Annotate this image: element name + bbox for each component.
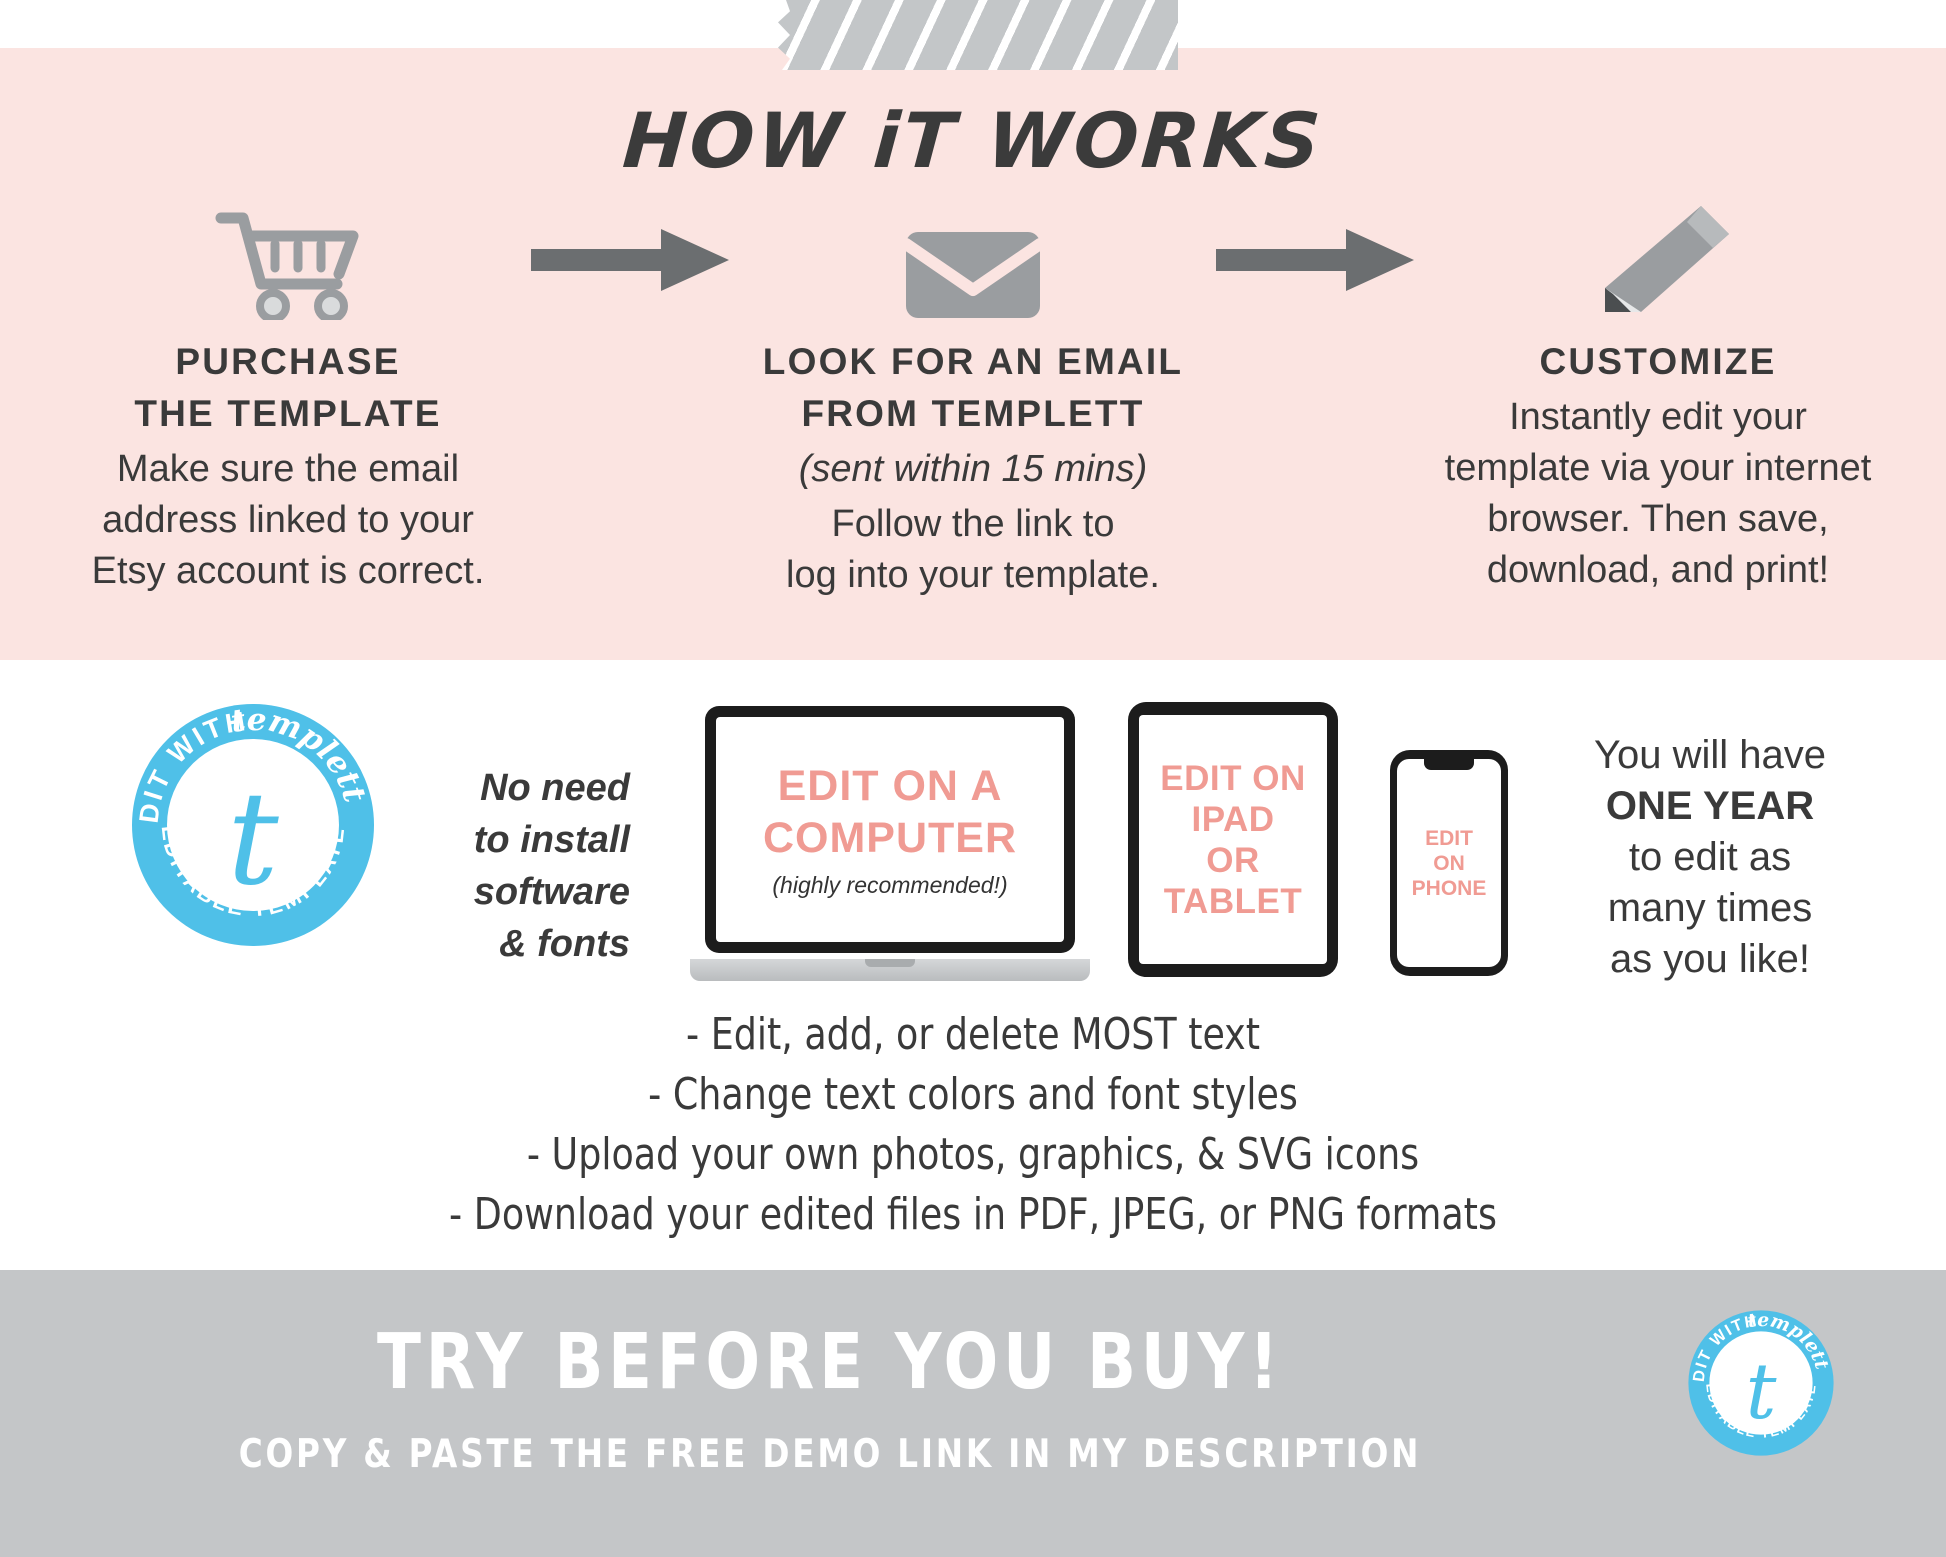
step-heading: PURCHASE THE TEMPLATE — [53, 336, 523, 440]
step-heading-line1: PURCHASE — [175, 341, 400, 382]
tablet-screen: EDIT ON IPAD OR TABLET — [1139, 715, 1327, 964]
gray-footer-section — [0, 1270, 1946, 1557]
laptop-screen: EDIT ON A COMPUTER (highly recommended!) — [716, 717, 1064, 942]
one-year-line2: to edit as — [1629, 835, 1791, 879]
phone-screen: EDIT ON PHONE — [1397, 759, 1501, 967]
one-year-line3: many times — [1608, 886, 1813, 930]
step-customize: CUSTOMIZE Instantly edit your template v… — [1423, 200, 1893, 596]
laptop-screen-heading: EDIT ON A COMPUTER — [763, 760, 1017, 864]
laptop-screen-note: (highly recommended!) — [772, 872, 1007, 899]
step-body-line2: template via your internet — [1445, 447, 1872, 489]
laptop-line1: EDIT ON A — [778, 762, 1003, 810]
how-it-works-infographic: HOW iT WORKS — [0, 0, 1946, 1557]
laptop-lid: EDIT ON A COMPUTER (highly recommended!) — [705, 706, 1075, 953]
step-look-for-email: LOOK FOR AN EMAIL FROM TEMPLETT (sent wi… — [738, 200, 1208, 601]
tablet-mockup: EDIT ON IPAD OR TABLET — [1128, 702, 1338, 977]
no-install-line1: No need — [480, 767, 630, 809]
step-body-line3: log into your template. — [786, 554, 1160, 596]
tablet-line1: EDIT ON — [1160, 759, 1305, 798]
laptop-line2: COMPUTER — [763, 814, 1017, 862]
no-install-line3: software — [474, 871, 630, 913]
footer-subtitle: COPY & PASTE THE FREE DEMO LINK IN MY DE… — [226, 1432, 1435, 1477]
phone-screen-text: EDIT ON PHONE — [1412, 826, 1487, 901]
step-heading: LOOK FOR AN EMAIL FROM TEMPLETT — [738, 336, 1208, 440]
step-heading: CUSTOMIZE — [1423, 336, 1893, 388]
no-install-note: No need to install software & fonts — [440, 762, 630, 970]
list-item: - Edit, add, or delete MOST text — [78, 1005, 1868, 1065]
tablet-line2: IPAD — [1191, 800, 1274, 839]
phone-notch — [1424, 759, 1474, 770]
step-body-line1: Make sure the email — [117, 448, 459, 490]
phone-line2: ON — [1433, 852, 1465, 875]
no-install-line2: to install — [474, 819, 630, 861]
step-heading-line1: LOOK FOR AN EMAIL — [763, 341, 1183, 382]
laptop-mockup: EDIT ON A COMPUTER (highly recommended!) — [690, 706, 1090, 981]
laptop-notch — [865, 959, 915, 967]
one-year-highlight: ONE YEAR — [1606, 784, 1814, 828]
tablet-line4: TABLET — [1164, 882, 1302, 921]
templett-badge-large: EDIT WITH templett EDITABLE TEMPLATE t — [128, 700, 378, 950]
step-body: Follow the link to log into your templat… — [738, 499, 1208, 601]
arrow-right-icon-1 — [523, 200, 738, 320]
step-body-line1: Instantly edit your — [1509, 396, 1807, 438]
one-year-line1: You will have — [1594, 733, 1826, 777]
step-heading-line1: CUSTOMIZE — [1539, 341, 1776, 382]
step-body-line3: browser. Then save, — [1487, 498, 1828, 540]
no-install-line4: & fonts — [499, 923, 630, 965]
step-body-note: (sent within 15 mins) — [738, 444, 1208, 495]
badge-letter-t: t — [227, 765, 279, 914]
badge-letter-t: t — [1746, 1348, 1777, 1437]
footer-title: TRY BEFORE YOU BUY! — [226, 1318, 1435, 1407]
step-body-line2: address linked to your — [102, 499, 474, 541]
list-item: - Download your edited files in PDF, JPE… — [78, 1185, 1868, 1245]
one-year-line4: as you like! — [1610, 937, 1810, 981]
templett-badge-small: EDIT WITH templett EDITABLE TEMPLATE t — [1686, 1308, 1836, 1458]
step-body-line4: download, and print! — [1487, 549, 1829, 591]
step-body: Make sure the email address linked to yo… — [53, 444, 523, 597]
step-heading-line2: FROM TEMPLETT — [801, 393, 1144, 434]
step-purchase: PURCHASE THE TEMPLATE Make sure the emai… — [53, 200, 523, 597]
page-title: HOW iT WORKS — [0, 96, 1946, 185]
feature-bullet-list: - Edit, add, or delete MOST text - Chang… — [0, 1005, 1946, 1245]
list-item: - Change text colors and font styles — [78, 1065, 1868, 1125]
phone-line3: PHONE — [1412, 877, 1487, 900]
steps-row: PURCHASE THE TEMPLATE Make sure the emai… — [0, 200, 1946, 620]
step-heading-line2: THE TEMPLATE — [134, 393, 441, 434]
one-year-note: You will have ONE YEAR to edit as many t… — [1520, 730, 1900, 985]
envelope-icon — [738, 200, 1208, 320]
list-item: - Upload your own photos, graphics, & SV… — [78, 1125, 1868, 1185]
tablet-screen-text: EDIT ON IPAD OR TABLET — [1160, 758, 1305, 922]
step-body-line3: Etsy account is correct. — [92, 550, 485, 592]
pencil-icon — [1423, 200, 1893, 320]
shopping-cart-icon — [53, 200, 523, 320]
phone-mockup: EDIT ON PHONE — [1390, 750, 1508, 976]
step-body-line2: Follow the link to — [831, 503, 1114, 545]
phone-line1: EDIT — [1425, 827, 1473, 850]
step-body: Instantly edit your template via your in… — [1423, 392, 1893, 596]
washi-tape-icon — [778, 0, 1178, 70]
arrow-right-icon-2 — [1208, 200, 1423, 320]
tablet-line3: OR — [1206, 841, 1260, 880]
